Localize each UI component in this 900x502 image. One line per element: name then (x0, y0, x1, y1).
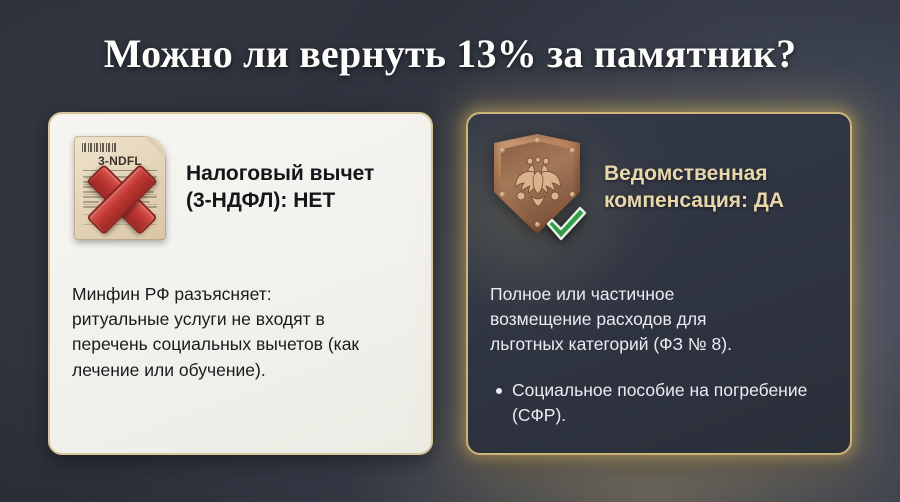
right-card-bullet-list: Социальное пособие на погребение (СФР). (490, 378, 828, 428)
card-departmental-compensation: Ведомственная компенсация: ДА Полное или… (466, 112, 852, 455)
left-card-heading-line2: (3-НДФЛ): НЕТ (186, 188, 374, 215)
right-body-line2: возмещение расходов для (490, 307, 828, 332)
left-card-heading-line1: Налоговый вычет (186, 161, 374, 188)
left-body-line4: лечение или обучение). (72, 358, 409, 383)
page-title: Можно ли вернуть 13% за памятник? (0, 34, 900, 74)
doc-icon-wrap: 3-NDFL (68, 130, 172, 245)
right-card-heading-line1: Ведомственная (604, 161, 784, 188)
left-card-body: Минфин РФ разъясняет: ритуальные услуги … (72, 282, 409, 383)
right-card-heading-line2: компенсация: ДА (604, 188, 784, 215)
bronze-shield-emblem-icon (488, 132, 588, 244)
shield-icon-wrap (486, 130, 590, 245)
left-body-line3: перечень социальных вычетов (как (72, 332, 409, 357)
green-check-icon (542, 202, 590, 242)
right-card-heading: Ведомственная компенсация: ДА (604, 161, 784, 215)
left-body-line1: Минфин РФ разъясняет: (72, 282, 409, 307)
shield-rivet (570, 148, 575, 153)
list-item: Социальное пособие на погребение (СФР). (512, 378, 828, 428)
tax-declaration-document-icon: 3-NDFL (74, 136, 166, 240)
shield-rivet (535, 222, 540, 227)
right-body-line1: Полное или частичное (490, 282, 828, 307)
right-card-header: Ведомственная компенсация: ДА (468, 130, 850, 245)
shield-rivet (500, 148, 505, 153)
left-card-header: 3-NDFL Налоговый вычет (3-НДФЛ): НЕТ (50, 130, 431, 245)
shield-rivet (500, 192, 505, 197)
red-cross-icon (82, 160, 158, 234)
shield-rivet (570, 192, 575, 197)
barcode-icon (82, 143, 116, 152)
left-card-heading: Налоговый вычет (3-НДФЛ): НЕТ (186, 161, 374, 215)
shield-rivet (535, 138, 540, 143)
left-body-line2: ритуальные услуги не входят в (72, 307, 409, 332)
card-tax-deduction: 3-NDFL Налоговый вычет (3-НДФЛ): НЕТ Мин… (48, 112, 433, 455)
right-body-line3: льготных категорий (ФЗ № 8). (490, 332, 828, 357)
right-card-body: Полное или частичное возмещение расходов… (490, 282, 828, 428)
